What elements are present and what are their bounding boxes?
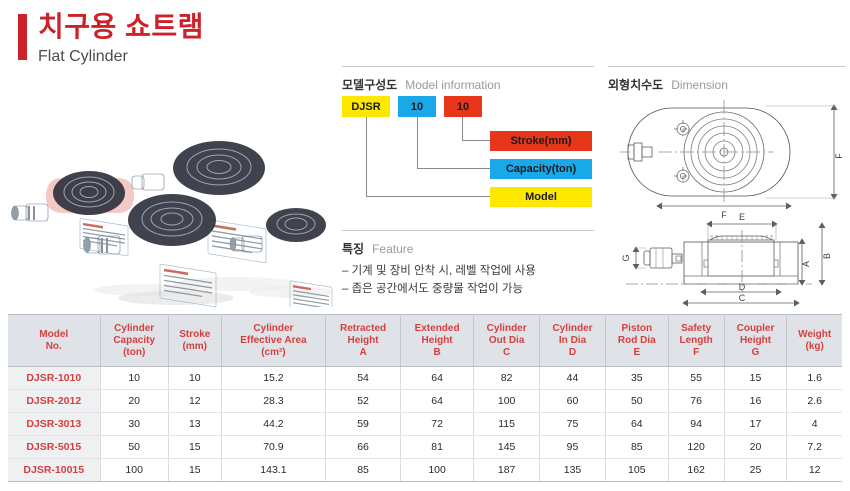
feature-item: – 기계 및 장비 안착 시, 레벨 작업에 사용 [342,262,536,280]
top-view-drawing: F F [620,100,844,220]
dimension-label-F-bottom: F [721,210,727,220]
table-row: DJSR-1001510015143.185100187135105162251… [8,459,842,482]
dimension-label-E: E [739,212,745,222]
table-cell: 7.2 [787,436,842,459]
capacity-code-chip: 10 [398,96,436,117]
table-header-cell: Weight (kg) [787,315,842,367]
table-cell: 13 [168,413,221,436]
table-cell: 59 [326,413,401,436]
section-divider [342,230,594,231]
specification-table: Model No. Cylinder Capacity (ton) Stroke… [8,314,842,482]
table-cell: 15 [168,459,221,482]
product-photo [8,112,338,307]
header-line: Extended [403,323,471,335]
header-line: F [671,347,722,359]
table-cell: 64 [400,390,473,413]
connector-model-horizontal [366,196,490,197]
table-cell: 75 [540,413,606,436]
header-line: Out Dia [476,335,537,347]
header-line: E [608,347,666,359]
header-line: G [727,347,785,359]
header-line: Coupler [727,323,785,335]
model-no-cell: DJSR-2012 [8,390,100,413]
header-line: Cylinder [542,323,603,335]
connector-capacity-vertical [417,117,418,169]
header-line: Height [328,335,398,347]
table-cell: 2.6 [787,390,842,413]
table-cell: 72 [400,413,473,436]
table-cell: 10 [100,367,168,390]
header-line: Rod Dia [608,335,666,347]
table-header-cell: Extended Height B [400,315,473,367]
header-line: Cylinder [224,323,323,335]
table-cell: 55 [668,367,724,390]
header-line: Weight [789,329,840,341]
header-line: D [542,347,603,359]
header-line: (cm²) [224,347,323,359]
table-cell: 85 [326,459,401,482]
table-cell: 120 [668,436,724,459]
model-no-cell: DJSR-5015 [8,436,100,459]
table-cell: 64 [400,367,473,390]
table-cell: 4 [787,413,842,436]
dimension-label-G: G [621,254,631,261]
feature-heading-ko: 특징 [342,242,364,256]
table-header-cell: Safety Length F [668,315,724,367]
header-line: Cylinder [476,323,537,335]
header-line: Model [10,329,98,341]
table-cell: 145 [474,436,540,459]
table-cell: 12 [787,459,842,482]
table-cell: 1.6 [787,367,842,390]
header-line: C [476,347,537,359]
table-cell: 187 [474,459,540,482]
header-line: Retracted [328,323,398,335]
connector-capacity-horizontal [417,168,490,169]
dimension-label-F-right: F [834,153,844,159]
table-cell: 70.9 [221,436,325,459]
header-line: In Dia [542,335,603,347]
model-information-heading-en: Model information [405,78,500,92]
page-title-en: Flat Cylinder [38,46,204,68]
table-cell: 15 [724,367,787,390]
coupler-4 [230,236,262,252]
table-header-cell: Cylinder Effective Area (cm²) [221,315,325,367]
section-divider [342,66,594,67]
table-row: DJSR-5015501570.966811459585120207.2 [8,436,842,459]
table-cell: 10 [168,367,221,390]
page-title-ko: 치구용 쇼트램 [38,10,204,44]
table-cell: 60 [540,390,606,413]
title-accent-bar [18,14,27,60]
dimension-label-A: A [801,261,811,267]
table-cell: 44.2 [221,413,325,436]
header-line: Safety [671,323,722,335]
table-cell: 50 [605,390,668,413]
feature-heading: 특징Feature [342,240,594,258]
table-row: DJSR-3013301344.25972115756494174 [8,413,842,436]
table-cell: 15.2 [221,367,325,390]
table-row: DJSR-1010101015.2546482443555151.6 [8,367,842,390]
table-cell: 17 [724,413,787,436]
capacity-label: Capacity(ton) [490,159,592,179]
table-header-cell: Piston Rod Dia E [605,315,668,367]
table-cell: 16 [724,390,787,413]
header-line: (mm) [171,341,219,353]
dimension-label-D: D [739,282,746,292]
feature-section: 특징Feature [342,230,594,258]
connector-stroke-vertical [462,117,463,141]
table-cell: 115 [474,413,540,436]
table-cell: 76 [668,390,724,413]
model-information-heading-ko: 모델구성도 [342,78,397,92]
feature-heading-en: Feature [372,242,413,256]
feature-list: – 기계 및 장비 안착 시, 레벨 작업에 사용 – 좁은 공간에서도 중량물… [342,262,536,298]
table-cell: 50 [100,436,168,459]
table-cell: 94 [668,413,724,436]
header-line: Piston [608,323,666,335]
table-cell: 85 [605,436,668,459]
connector-model-vertical [366,117,367,197]
table-cell: 135 [540,459,606,482]
connector-stroke-horizontal [462,140,490,141]
table-cell: 162 [668,459,724,482]
table-header-cell: Retracted Height A [326,315,401,367]
header-line: Effective Area [224,335,323,347]
table-cell: 100 [474,390,540,413]
table-header-cell: Stroke (mm) [168,315,221,367]
table-cell: 12 [168,390,221,413]
header-line: Length [671,335,722,347]
table-cell: 100 [100,459,168,482]
coupler-1 [12,204,49,221]
side-view-drawing: E A [621,212,832,306]
header-line: Height [403,335,471,347]
page-title-block: 치구용 쇼트램 Flat Cylinder [18,10,204,68]
header-line: No. [10,341,98,353]
header-line: Stroke [171,329,219,341]
model-information-heading: 모델구성도Model information [342,76,594,94]
model-information-section: 모델구성도Model information [342,66,594,94]
table-cell: 82 [474,367,540,390]
table-cell: 95 [540,436,606,459]
table-cell: 66 [326,436,401,459]
table-cell: 28.3 [221,390,325,413]
stroke-code-chip: 10 [444,96,482,117]
table-cell: 143.1 [221,459,325,482]
table-header-cell: Cylinder Out Dia C [474,315,540,367]
table-cell: 30 [100,413,168,436]
dimension-label-B: B [822,253,832,259]
table-cell: 20 [100,390,168,413]
table-cell: 15 [168,436,221,459]
table-header-cell: Cylinder Capacity (ton) [100,315,168,367]
table-cell: 44 [540,367,606,390]
model-code-chip: DJSR [342,96,390,117]
table-cell: 105 [605,459,668,482]
table-cell: 52 [326,390,401,413]
model-label: Model [490,187,592,207]
stroke-label: Stroke(mm) [490,131,592,151]
model-no-cell: DJSR-1010 [8,367,100,390]
table-cell: 100 [400,459,473,482]
model-no-cell: DJSR-10015 [8,459,100,482]
coupler-3 [84,236,121,254]
header-line: Capacity [103,335,166,347]
section-divider [608,66,846,67]
table-cell: 25 [724,459,787,482]
dimension-label-C: C [739,293,746,303]
model-information-diagram: DJSR 10 10 Stroke(mm) Capacity(ton) Mode… [342,96,594,216]
table-header-cell: Model No. [8,315,100,367]
table-cell: 35 [605,367,668,390]
model-no-cell: DJSR-3013 [8,413,100,436]
table-cell: 54 [326,367,401,390]
table-header-row: Model No. Cylinder Capacity (ton) Stroke… [8,315,842,367]
feature-item: – 좁은 공간에서도 중량물 작업이 가능 [342,280,536,298]
table-header-cell: Coupler Height G [724,315,787,367]
header-line: A [328,347,398,359]
header-line: B [403,347,471,359]
header-line: Height [727,335,785,347]
dimension-drawings: F F E [606,90,848,308]
table-cell: 64 [605,413,668,436]
header-line: (kg) [789,341,840,353]
table-cell: 20 [724,436,787,459]
table-row: DJSR-2012201228.35264100605076162.6 [8,390,842,413]
header-line: Cylinder [103,323,166,335]
table-header-cell: Cylinder In Dia D [540,315,606,367]
header-line: (ton) [103,347,166,359]
table-cell: 81 [400,436,473,459]
coupler-2 [132,174,164,190]
